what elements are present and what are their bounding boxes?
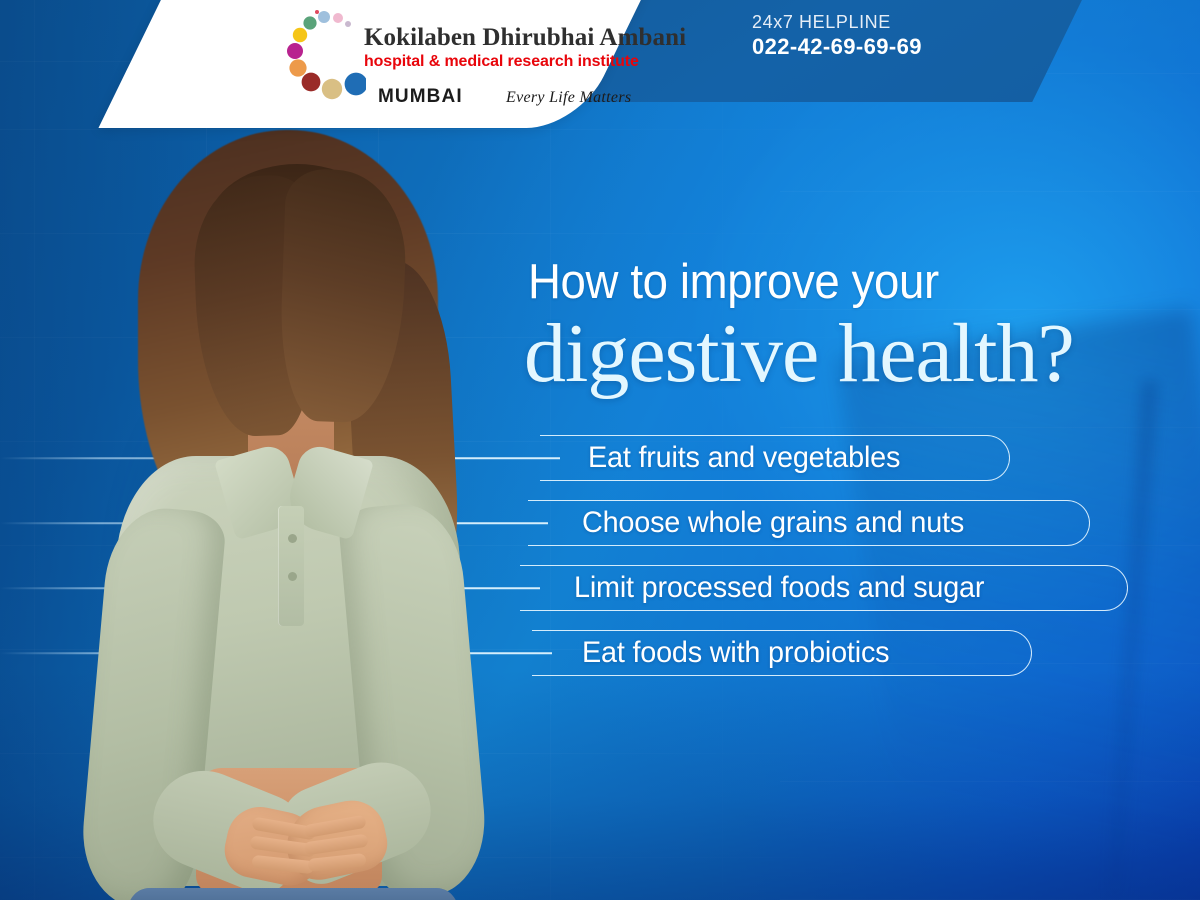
headline-line-1: How to improve your	[528, 258, 1142, 307]
helpline-block: 24x7 HELPLINE 022-42-69-69-69	[752, 12, 922, 61]
tip-label: Eat fruits and vegetables	[588, 441, 900, 475]
tip-label: Limit processed foods and sugar	[574, 571, 984, 605]
shirt-placket	[278, 506, 304, 626]
brand-subtitle: hospital & medical research institute	[364, 53, 696, 71]
logo-dot-spiral-icon	[286, 10, 366, 102]
helpline-number[interactable]: 022-42-69-69-69	[752, 34, 922, 61]
shirt-button	[288, 534, 297, 543]
tip-label: Choose whole grains and nuts	[582, 506, 964, 540]
tip-pill[interactable]: Choose whole grains and nuts	[528, 500, 1090, 546]
tip-label: Eat foods with probiotics	[582, 636, 889, 670]
model-photo	[20, 120, 540, 900]
poster-canvas: Eat fruits and vegetables Choose whole g…	[0, 0, 1200, 900]
tip-pill[interactable]: Eat fruits and vegetables	[540, 435, 1010, 481]
tip-pill[interactable]: Eat foods with probiotics	[532, 630, 1032, 676]
shirt-button	[288, 572, 297, 581]
helpline-label: 24x7 HELPLINE	[752, 12, 922, 34]
brand-city: MUMBAI	[378, 86, 463, 108]
headline-line-2: digestive health?	[524, 311, 1188, 397]
brand-tagline: Every Life Matters	[506, 89, 631, 107]
logo-text-block: Kokilaben Dhirubhai Ambani hospital & me…	[364, 24, 686, 71]
brand-name: Kokilaben Dhirubhai Ambani	[364, 24, 686, 52]
headline: How to improve your digestive health?	[528, 258, 1188, 397]
jeans	[128, 888, 458, 900]
hospital-logo[interactable]: Kokilaben Dhirubhai Ambani hospital & me…	[286, 8, 666, 120]
jeans-waistband	[128, 888, 458, 900]
tip-pill[interactable]: Limit processed foods and sugar	[520, 565, 1128, 611]
